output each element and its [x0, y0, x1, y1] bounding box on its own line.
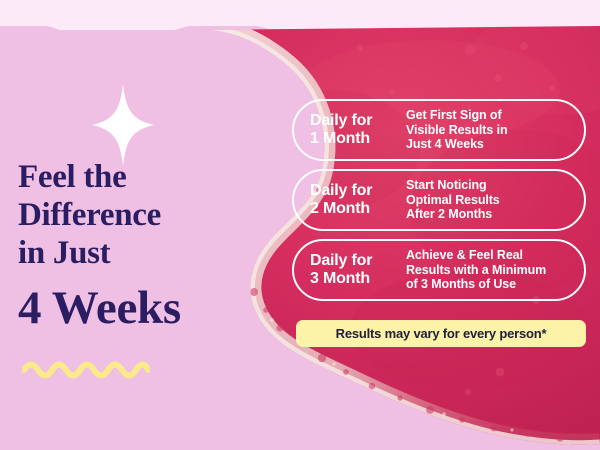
benefit-card-1-description: Get First Sign of Visible Results in Jus… — [402, 108, 584, 152]
benefit-card-3-term-line-2: 3 Month — [310, 270, 402, 288]
promo-banner: Feel the Difference in Just 4 Weeks Dail… — [0, 0, 600, 450]
benefit-card-3-term-line-1: Daily for — [310, 252, 402, 270]
headline-line-1: Feel the — [18, 158, 286, 196]
benefit-card-2-desc-line-3: After 2 Months — [406, 207, 584, 222]
benefit-card-1[interactable]: Daily for 1 Month Get First Sign of Visi… — [292, 99, 586, 161]
benefit-card-1-desc-line-1: Get First Sign of — [406, 108, 584, 123]
benefit-card-1-desc-line-3: Just 4 Weeks — [406, 137, 584, 152]
benefit-card-1-term-line-1: Daily for — [310, 112, 402, 130]
benefit-card-3-desc-line-1: Achieve & Feel Real — [406, 248, 584, 263]
benefit-card-3-description: Achieve & Feel Real Results with a Minim… — [402, 248, 584, 292]
benefit-card-2-term-line-1: Daily for — [310, 182, 402, 200]
benefit-card-3-desc-line-3: of 3 Months of Use — [406, 277, 584, 292]
benefit-card-list: Daily for 1 Month Get First Sign of Visi… — [292, 99, 586, 309]
benefit-card-3-desc-line-2: Results with a Minimum — [406, 263, 584, 278]
benefit-card-1-term-line-2: 1 Month — [310, 130, 402, 148]
benefit-card-3-term: Daily for 3 Month — [310, 252, 402, 288]
headline-emphasis: 4 Weeks — [18, 272, 286, 338]
benefit-card-2-desc-line-2: Optimal Results — [406, 193, 584, 208]
headline-line-2: Difference — [18, 196, 286, 234]
benefit-card-3[interactable]: Daily for 3 Month Achieve & Feel Real Re… — [292, 239, 586, 301]
sparkle-icon — [92, 84, 154, 166]
benefit-card-2[interactable]: Daily for 2 Month Start Noticing Optimal… — [292, 169, 586, 231]
benefit-card-2-description: Start Noticing Optimal Results After 2 M… — [402, 178, 584, 222]
benefit-card-2-desc-line-1: Start Noticing — [406, 178, 584, 193]
benefit-card-2-term-line-2: 2 Month — [310, 200, 402, 218]
benefit-card-1-desc-line-2: Visible Results in — [406, 123, 584, 138]
wavy-underline-icon — [22, 356, 150, 380]
page-title: Feel the Difference in Just 4 Weeks — [18, 158, 286, 338]
headline-line-3: in Just — [18, 234, 286, 272]
disclaimer-banner: Results may vary for every person* — [296, 320, 586, 347]
disclaimer-text: Results may vary for every person* — [336, 326, 547, 341]
benefit-card-1-term: Daily for 1 Month — [310, 112, 402, 148]
benefit-card-2-term: Daily for 2 Month — [310, 182, 402, 218]
